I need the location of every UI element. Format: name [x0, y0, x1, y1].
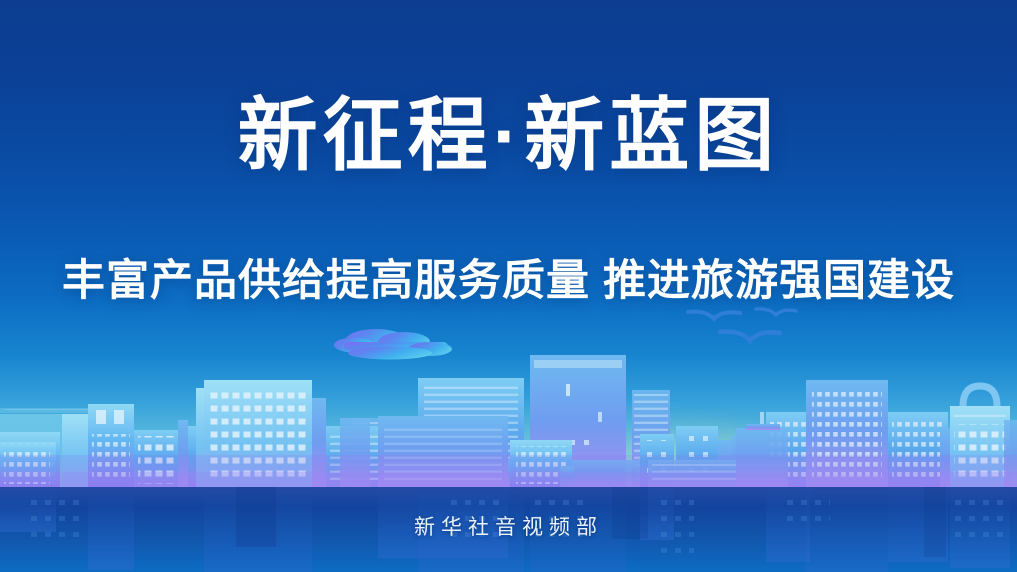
footer-credit: 新华社音视频部 — [0, 517, 1017, 538]
poster-canvas: 新征程·新蓝图 丰富产品供给提高服务质量 推进旅游强国建设 新华社音视频部 — [0, 0, 1017, 572]
page-title: 新征程·新蓝图 — [0, 96, 1017, 176]
page-subtitle: 丰富产品供给提高服务质量 推进旅游强国建设 — [0, 260, 1017, 303]
